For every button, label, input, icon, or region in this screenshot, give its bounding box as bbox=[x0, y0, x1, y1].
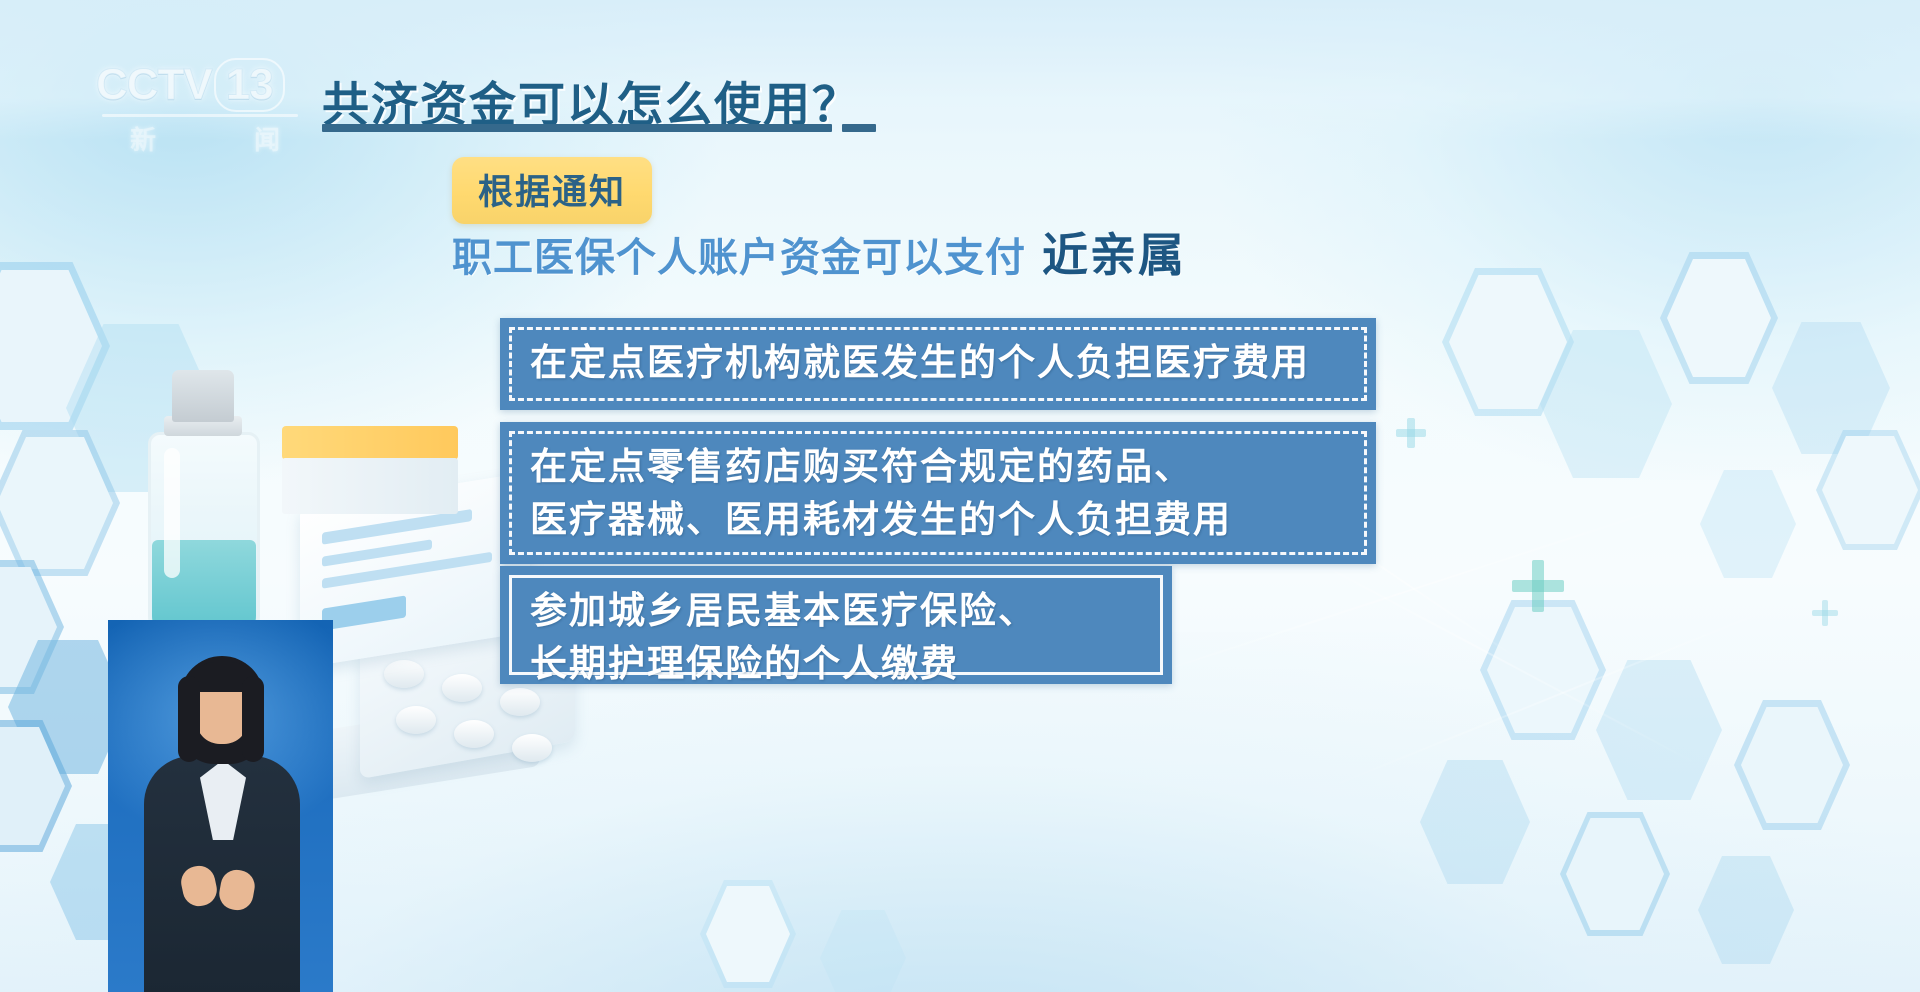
channel-sub-left: 新 bbox=[130, 120, 156, 157]
subtitle-accent-text: 近亲属 bbox=[1042, 219, 1186, 285]
content-box-resident-insurance: 参加城乡居民基本医疗保险、 长期护理保险的个人缴费 bbox=[500, 566, 1172, 684]
source-badge: 根据通知 bbox=[452, 157, 652, 224]
hexagon-icon bbox=[1660, 252, 1778, 384]
content-line: 在定点零售药店购买符合规定的药品、 bbox=[530, 440, 1350, 493]
channel-sub-label: 新 闻 bbox=[130, 120, 280, 157]
content-line: 在定点医疗机构就医发生的个人负担医疗费用 bbox=[530, 336, 1350, 389]
presenter-hair-left bbox=[178, 676, 200, 762]
illustration-pill bbox=[442, 674, 482, 702]
hexagon-icon bbox=[820, 910, 906, 992]
illustration-pill bbox=[454, 720, 494, 748]
logo-divider bbox=[102, 114, 298, 117]
illustration-pill bbox=[384, 660, 424, 688]
hexagon-icon bbox=[1700, 470, 1796, 578]
subtitle: 职工医保个人账户资金可以支付 近亲属 bbox=[452, 219, 1186, 285]
hexagon-icon bbox=[1596, 660, 1722, 800]
content-line: 参加城乡居民基本医疗保险、 bbox=[530, 584, 1146, 637]
illustration-pill bbox=[396, 706, 436, 734]
illustration-vial-cap bbox=[172, 370, 234, 422]
hexagon-icon bbox=[1420, 760, 1530, 884]
illustration-vial-highlight bbox=[164, 448, 180, 578]
presenter-video-inset bbox=[108, 620, 333, 992]
subtitle-main-text: 职工医保个人账户资金可以支付 bbox=[452, 225, 1026, 283]
channel-sub-right: 闻 bbox=[254, 120, 280, 157]
content-box-text: 在定点医疗机构就医发生的个人负担医疗费用 bbox=[500, 318, 1376, 405]
title-underline-dash bbox=[842, 124, 876, 132]
broadcast-screen: CCTV13 新 闻 共济资金可以怎么使用？ 根据通知 职工医保个人账户资金可以… bbox=[0, 0, 1920, 992]
hexagon-icon bbox=[1734, 700, 1850, 830]
content-line: 长期护理保险的个人缴费 bbox=[530, 637, 1146, 690]
illustration-medicine-box bbox=[282, 426, 458, 460]
hexagon-icon bbox=[1560, 812, 1670, 936]
channel-logo-label: CCTV bbox=[96, 60, 212, 109]
illustration-pill bbox=[512, 734, 552, 762]
hexagon-icon bbox=[1698, 856, 1794, 964]
channel-logo-text: CCTV13 bbox=[96, 58, 306, 112]
medical-cross-icon bbox=[1812, 600, 1838, 626]
content-box-text: 在定点零售药店购买符合规定的药品、 医疗器械、医用耗材发生的个人负担费用 bbox=[500, 422, 1376, 562]
content-box-retail-pharmacy: 在定点零售药店购买符合规定的药品、 医疗器械、医用耗材发生的个人负担费用 bbox=[500, 422, 1376, 564]
hexagon-icon bbox=[700, 880, 796, 988]
presenter-hair-right bbox=[242, 676, 264, 762]
content-box-medical-institution: 在定点医疗机构就医发生的个人负担医疗费用 bbox=[500, 318, 1376, 410]
medical-cross-icon bbox=[1512, 560, 1564, 612]
channel-number: 13 bbox=[214, 58, 285, 112]
content-line: 医疗器械、医用耗材发生的个人负担费用 bbox=[530, 493, 1350, 546]
content-box-text: 参加城乡居民基本医疗保险、 长期护理保险的个人缴费 bbox=[500, 566, 1172, 706]
illustration-medicine-box-body bbox=[282, 458, 458, 514]
cctv-13-logo: CCTV13 新 闻 bbox=[96, 58, 306, 148]
title-underline bbox=[322, 124, 832, 132]
medical-cross-icon bbox=[1396, 418, 1426, 448]
